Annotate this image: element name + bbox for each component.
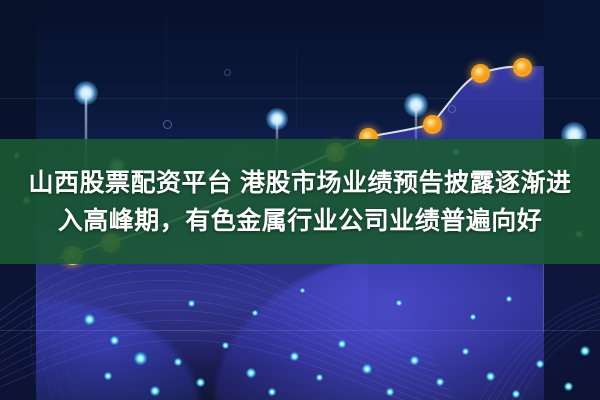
faint-ring-icon [224,69,231,76]
faint-ring-icon [163,120,172,129]
chart-node-marker [423,115,442,134]
headline-line-1: 山西股票配资平台 港股市场业绩预告披露逐渐进 [29,167,572,199]
faint-ring-icon [448,105,456,113]
chart-node-marker [471,64,490,83]
banner-image: 山西股票配资平台 港股市场业绩预告披露逐渐进 入高峰期，有色金属行业公司业绩普遍… [0,0,600,400]
chart-node-marker [513,58,532,77]
headline-line-2: 入高峰期，有色金属行业公司业绩普遍向好 [58,205,543,237]
headline-text: 山西股票配资平台 港股市场业绩预告披露逐渐进 入高峰期，有色金属行业公司业绩普遍… [0,139,600,264]
